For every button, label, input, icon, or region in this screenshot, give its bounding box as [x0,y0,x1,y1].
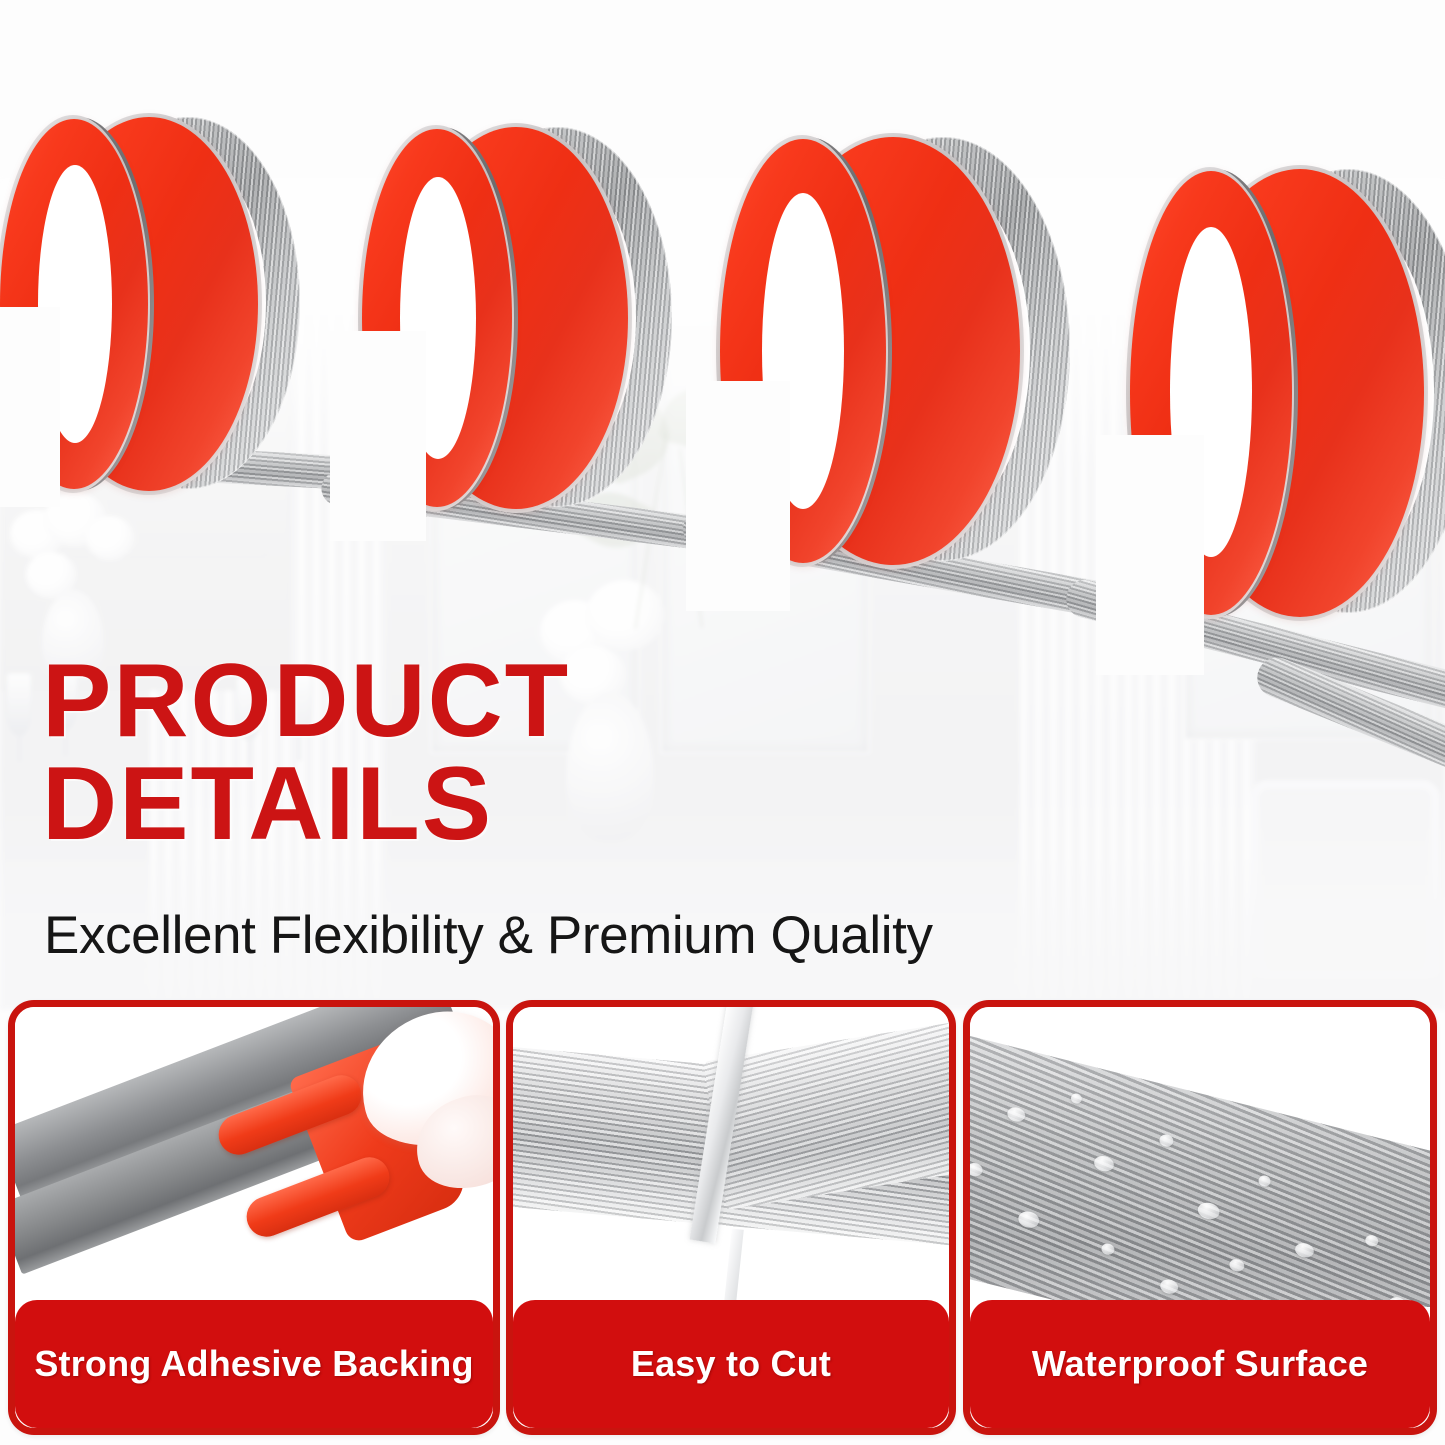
water-droplet [1257,1174,1271,1188]
product-coil-3 [700,131,1070,581]
product-coil-1 [0,111,300,501]
adhesive-backing-photo [15,1007,493,1307]
title-line-product: PRODUCT [42,650,1142,753]
feature-panel-adhesive[interactable]: Strong Adhesive Backing [8,1000,500,1435]
feature-panel-waterproof[interactable]: Waterproof Surface [963,1000,1437,1435]
wet-woodgrain-strip [970,1027,1430,1307]
product-coil-2 [342,121,672,521]
product-detail-banner: PRODUCT DETAILS Excellent Flexibility & … [0,0,1445,1445]
panel-caption-text: Waterproof Surface [1032,1343,1368,1385]
coil-bottom-mask [686,381,790,611]
coil-bottom-mask [1096,435,1204,675]
water-droplet [1159,1278,1180,1296]
waterproof-surface-photo [970,1007,1430,1307]
feature-panel-cut[interactable]: Easy to Cut [506,1000,956,1435]
panel-caption-bar: Strong Adhesive Backing [15,1300,493,1428]
water-droplet [1017,1209,1041,1230]
water-droplet [970,1161,984,1177]
panel-caption-bar: Waterproof Surface [970,1300,1430,1428]
water-droplet [1364,1234,1379,1248]
coil-bottom-mask [0,307,60,507]
water-droplet [1100,1242,1115,1256]
panel-caption-bar: Easy to Cut [513,1300,949,1428]
water-droplet [1196,1200,1221,1221]
water-droplet [1294,1241,1316,1259]
coil-bottom-mask [330,331,426,541]
title-line-details: DETAILS [42,753,1142,856]
water-droplet [1070,1092,1083,1104]
water-droplet [1158,1133,1174,1148]
page-subtitle: Excellent Flexibility & Premium Quality [44,905,933,966]
water-droplet [1006,1106,1027,1124]
panel-caption-text: Strong Adhesive Backing [34,1343,473,1385]
easy-to-cut-photo [513,1007,949,1307]
blade-tip [722,1229,744,1307]
water-droplet [1092,1154,1115,1173]
feature-panel-group: Strong Adhesive Backing Easy to Cut [0,1000,1445,1445]
page-title: PRODUCT DETAILS [42,650,1142,856]
product-coil-4 [1112,163,1445,633]
panel-caption-text: Easy to Cut [631,1343,831,1385]
water-droplet [1228,1258,1245,1273]
